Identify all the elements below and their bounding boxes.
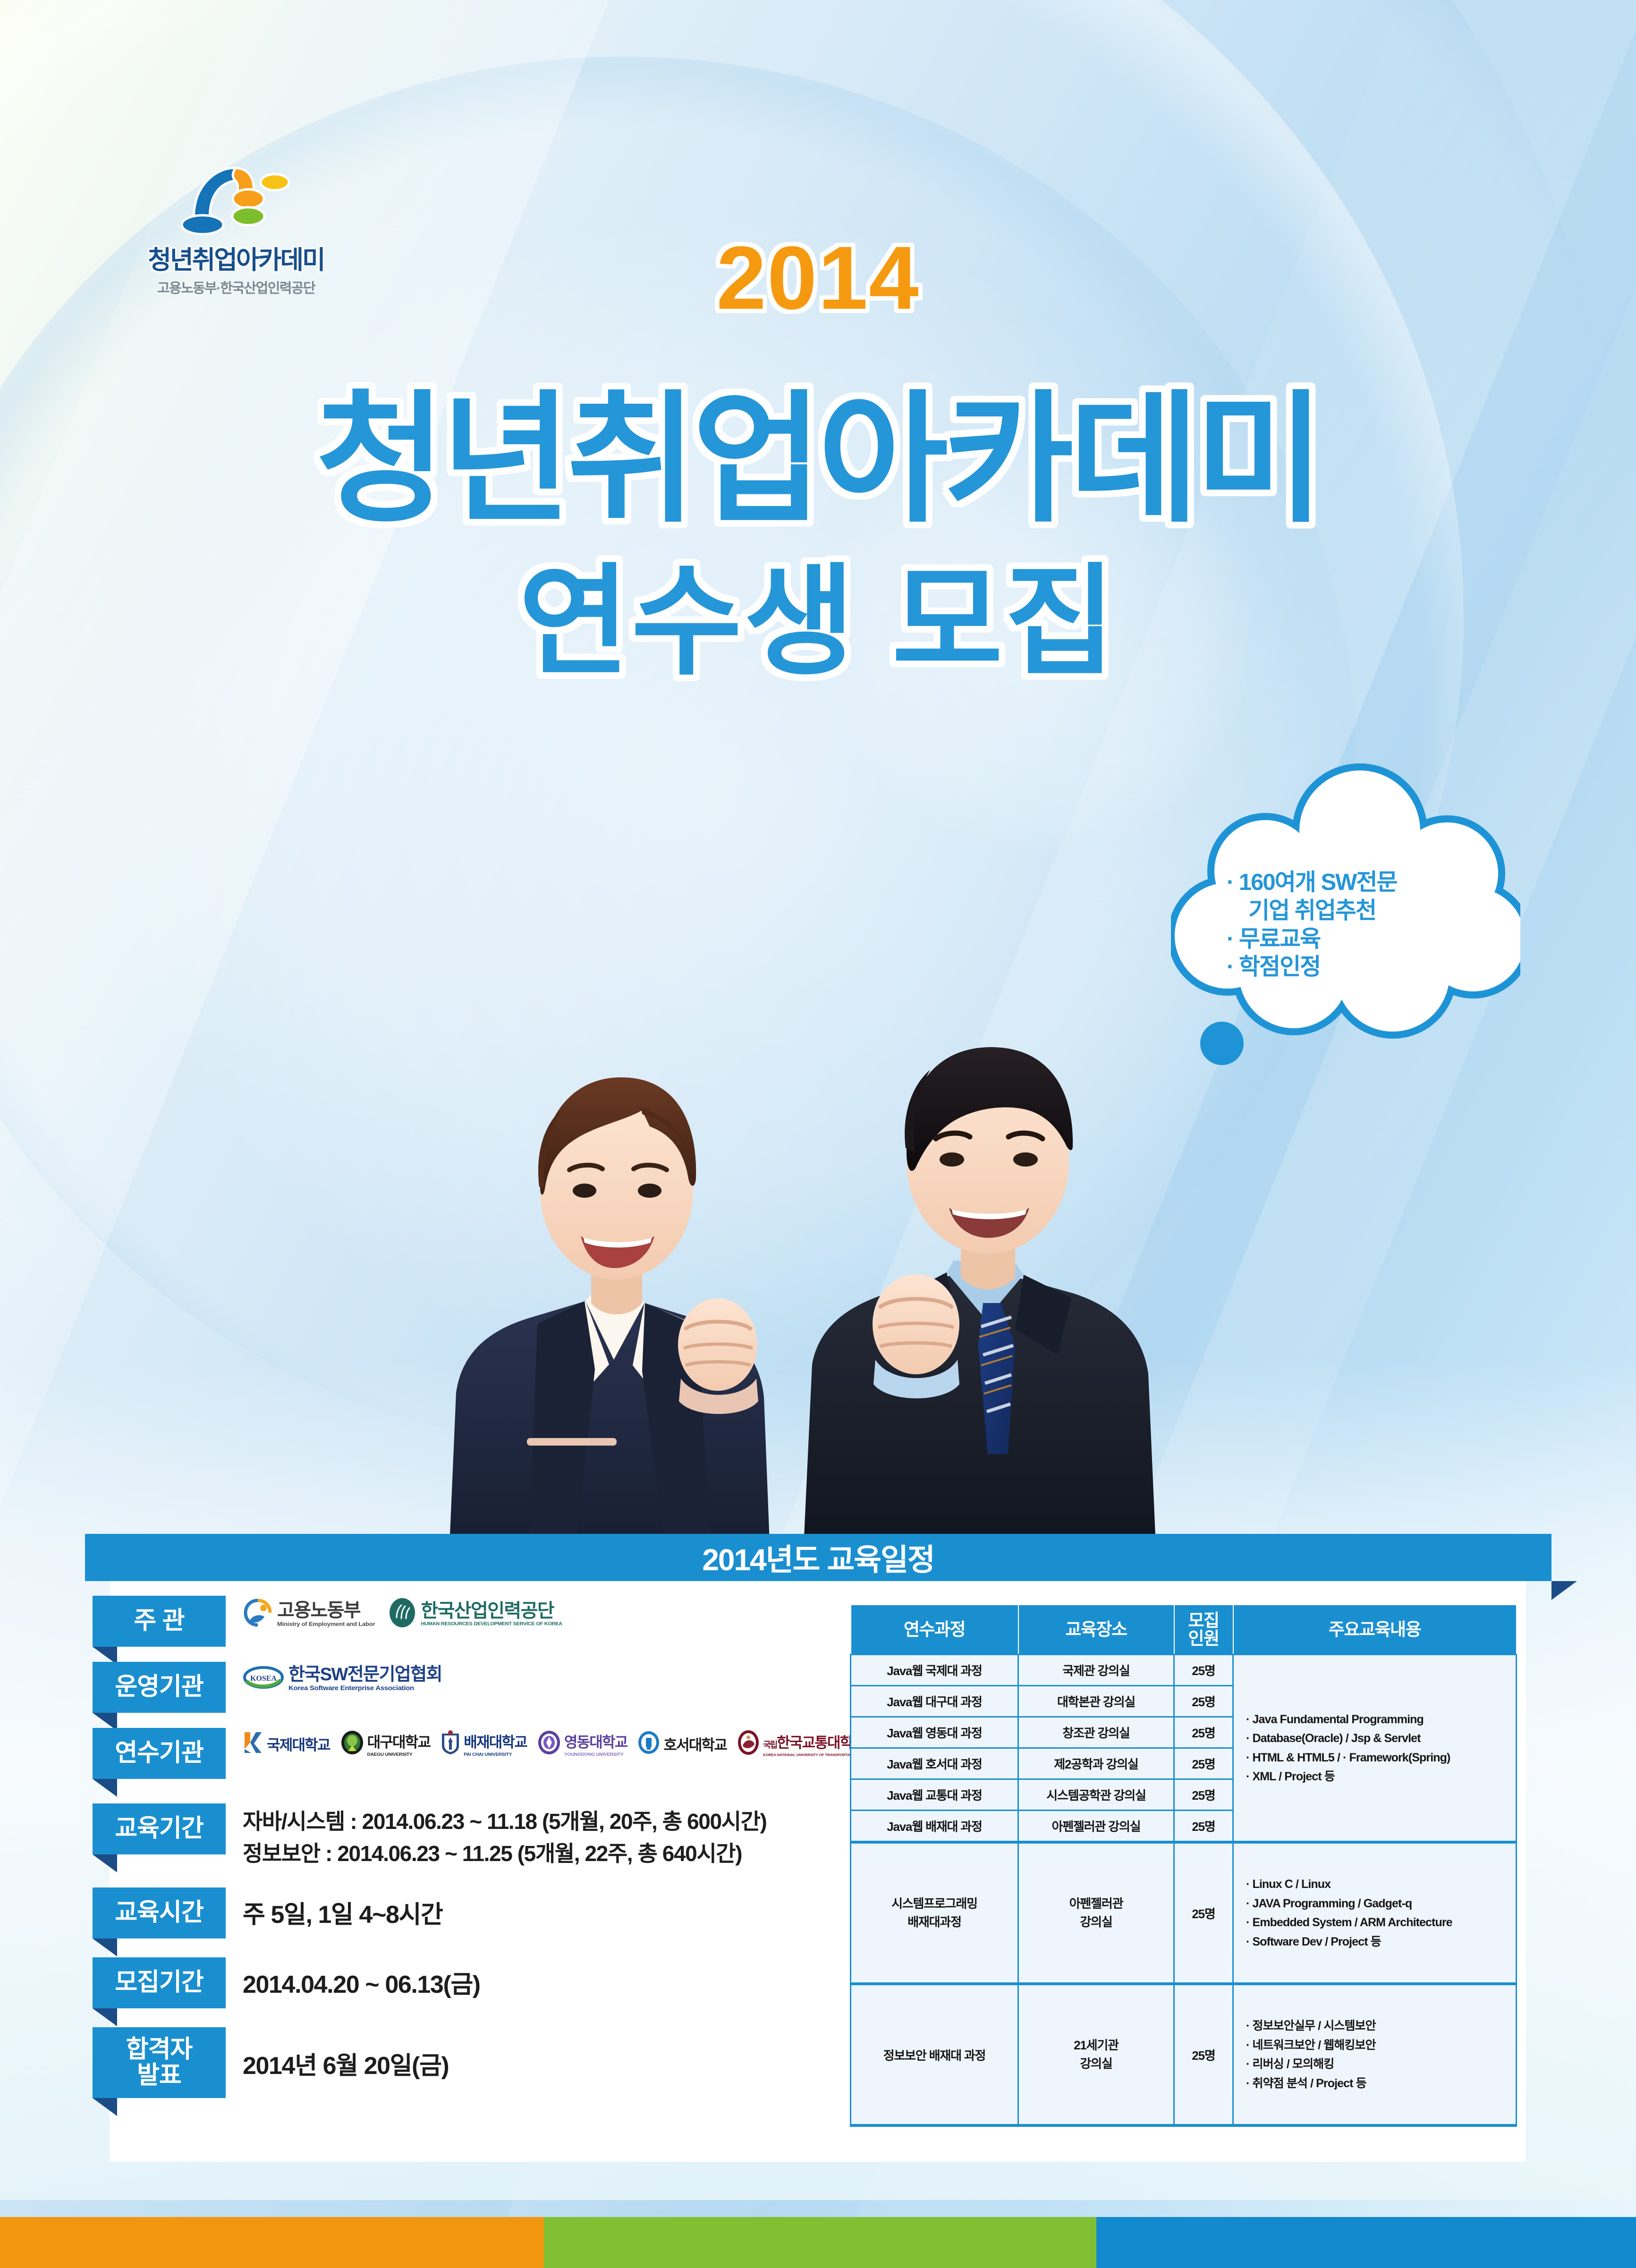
schedule-banner-title: 2014년도 교육일정 xyxy=(702,1536,934,1579)
java-content-2: · Database(Oracle) / Jsp & Servlet xyxy=(1246,1729,1514,1748)
male-student xyxy=(803,1047,1157,1567)
info-row-announce: 합격자 발표 2014년 6월 20일(금) xyxy=(93,2027,839,2103)
info-label-training-institutes: 연수기관 xyxy=(93,1728,226,1779)
cell-place-sysprog: 아펜젤러관 강의실 xyxy=(1018,1842,1174,1984)
cell-course: Java웹 교통대 과정 xyxy=(851,1779,1018,1811)
schedule-header-row: 연수과정 교육장소 모집 인원 주요교육내용 xyxy=(851,1605,1517,1655)
host-logo-strip: 고용노동부 Ministry of Employment and Labor xyxy=(243,1598,839,1630)
footer-bar-green xyxy=(544,2217,1096,2268)
security-content-3: · 리버싱 / 모의해킹 xyxy=(1246,2055,1514,2074)
cell-capacity: 25명 xyxy=(1174,1686,1233,1717)
paichai-kr: 배재대학교 xyxy=(464,1730,527,1752)
cell-place: 아펜젤러관 강의실 xyxy=(1018,1811,1174,1843)
info-label-recruit-text: 모집기간 xyxy=(115,1970,203,1996)
info-value-training-institutes: 국제대학교 대구대학교 xyxy=(226,1728,865,1758)
cell-capacity: 25명 xyxy=(1174,1779,1233,1811)
daegu-crest-icon xyxy=(340,1730,364,1757)
paichai-crest-icon xyxy=(441,1730,460,1758)
cell-course: Java웹 호서대 과정 xyxy=(851,1748,1018,1779)
kosea-emblem-icon: KOSEA xyxy=(243,1664,284,1693)
info-label-operator: 운영기관 xyxy=(93,1662,226,1713)
hrd-emblem-icon xyxy=(388,1598,416,1630)
hero-title-line1: 청년취업아카데미 xyxy=(0,345,1636,550)
cell-place: 대학본관 강의실 xyxy=(1018,1686,1174,1717)
bubble-line-3: · 무료교육 xyxy=(1227,925,1472,954)
molab-kr: 고용노동부 xyxy=(277,1601,375,1620)
info-label-host: 주 관 xyxy=(93,1596,226,1647)
cell-course: Java웹 영동대 과정 xyxy=(851,1717,1018,1748)
youngdong-kr: 영동대학교 xyxy=(564,1730,627,1752)
security-content-1: · 정보보안실무 / 시스템보안 xyxy=(1246,2016,1514,2036)
cell-course: Java웹 대구대 과정 xyxy=(851,1686,1018,1717)
logo-kosea: KOSEA 한국SW전문기업협회 Korea Software Enterpri… xyxy=(243,1664,442,1693)
youngdong-text: 영동대학교 YOUNGDONG UNIVERSITY xyxy=(564,1730,627,1758)
poster-root: 청년취업아카데미 고용노동부·한국산업인력공단 2014 청년취업아카데미 연수… xyxy=(0,0,1636,2268)
info-value-recruit: 2014.04.20 ~ 06.13(금) xyxy=(226,1957,839,2003)
info-label-announce: 합격자 발표 xyxy=(93,2027,226,2098)
java-content-3: · HTML & HTML5 / · Framework(Spring) xyxy=(1246,1748,1514,1768)
sysprog-course-l1: 시스템프로그래밍 xyxy=(853,1895,1016,1913)
info-row-host: 주 관 xyxy=(93,1596,839,1662)
info-label-training-institutes-text: 연수기관 xyxy=(115,1740,203,1766)
info-label-recruit: 모집기간 xyxy=(93,1957,226,2008)
students-photo xyxy=(387,736,1218,1567)
banner-fold-right xyxy=(1551,1581,1577,1600)
paichai-en: PAI CHAI UNIVERSITY xyxy=(464,1752,527,1757)
daegu-en: DAEGU UNIVERSITY xyxy=(367,1752,431,1757)
info-label-host-text: 주 관 xyxy=(134,1608,184,1634)
logo-kookje-university: 국제대학교 xyxy=(243,1730,330,1757)
info-row-period: 교육기간 자바/시스템 : 2014.06.23 ~ 11.18 (5개월, 2… xyxy=(93,1803,839,1887)
info-label-hours: 교육시간 xyxy=(93,1887,226,1938)
female-fist xyxy=(678,1298,758,1414)
header-course: 연수과정 xyxy=(851,1605,1018,1655)
hero-title-line2: 연수생 모집 xyxy=(0,524,1636,698)
cell-capacity: 25명 xyxy=(1174,1717,1233,1748)
security-place-l1: 21세기관 xyxy=(1021,2036,1171,2055)
molab-text: 고용노동부 Ministry of Employment and Labor xyxy=(277,1601,375,1627)
info-row-recruit: 모집기간 2014.04.20 ~ 06.13(금) xyxy=(93,1957,839,2027)
cell-course: Java웹 국제대 과정 xyxy=(851,1655,1018,1686)
logo-korea-national-university-of-transportation: 국립한국교통대학교 KOREA NATIONAL UNIVERSITY OF T… xyxy=(737,1730,865,1758)
cell-course-security: 정보보안 배재대 과정 xyxy=(851,1984,1018,2125)
thought-bubble-dot xyxy=(1200,1022,1244,1065)
hrd-text: 한국산업인력공단 HUMAN RESOURCES DEVELOPMENT SER… xyxy=(421,1601,562,1627)
cell-place: 국제관 강의실 xyxy=(1018,1655,1174,1686)
knut-crest-icon xyxy=(737,1730,760,1758)
bubble-line-4: · 학점인정 xyxy=(1227,953,1472,982)
schedule-table: 연수과정 교육장소 모집 인원 주요교육내용 Java웹 국제대 과정 국제관 … xyxy=(850,1604,1517,2127)
footer-bar-orange xyxy=(0,2217,544,2268)
cell-course: Java웹 배재대 과정 xyxy=(851,1811,1018,1843)
logo-mark-icon xyxy=(165,142,307,236)
tab-fold xyxy=(93,2008,117,2026)
java-content-1: · Java Fundamental Programming xyxy=(1246,1710,1514,1729)
logo-ministry-of-employment-and-labor: 고용노동부 Ministry of Employment and Labor xyxy=(243,1598,375,1630)
paichai-text: 배재대학교 PAI CHAI UNIVERSITY xyxy=(464,1730,527,1758)
sysprog-content-3: · Embedded System / ARM Architecture xyxy=(1246,1913,1514,1932)
tab-fold xyxy=(93,1854,117,1872)
info-label-period-text: 교육기간 xyxy=(115,1816,203,1842)
header-capacity: 모집 인원 xyxy=(1174,1605,1233,1655)
daegu-kr: 대구대학교 xyxy=(367,1730,431,1752)
cell-place: 제2공학과 강의실 xyxy=(1018,1748,1174,1779)
hoseo-text: 호서대학교 xyxy=(663,1733,727,1754)
hoseo-kr: 호서대학교 xyxy=(663,1733,727,1754)
info-row-training-institutes: 연수기관 국제대학교 xyxy=(93,1728,839,1803)
kookje-kr: 국제대학교 xyxy=(267,1733,330,1754)
header-capacity-l1: 모집 xyxy=(1176,1612,1232,1630)
announce-value: 2014년 6월 20일(금) xyxy=(243,2048,839,2084)
security-content-2: · 네트워크보안 / 웹해킹보안 xyxy=(1246,2036,1514,2055)
logo-daegu-university: 대구대학교 DAEGU UNIVERSITY xyxy=(340,1730,431,1758)
tab-fold xyxy=(93,2098,117,2116)
logo-hrd-korea: 한국산업인력공단 HUMAN RESOURCES DEVELOPMENT SER… xyxy=(388,1598,562,1630)
cell-place: 창조관 강의실 xyxy=(1018,1717,1174,1748)
sysprog-content-2: · JAVA Programming / Gadget-q xyxy=(1246,1894,1514,1913)
cell-capacity: 25명 xyxy=(1174,1655,1233,1686)
schedule-banner: 2014년도 교육일정 xyxy=(85,1534,1551,1581)
cell-place-security: 21세기관 강의실 xyxy=(1018,1984,1174,2125)
announce-label-line2: 발표 xyxy=(126,2063,193,2089)
sysprog-course-l2: 배재대과정 xyxy=(853,1913,1016,1931)
cell-capacity: 25명 xyxy=(1174,1748,1233,1779)
kookje-crest-icon xyxy=(243,1730,263,1757)
daegu-text: 대구대학교 DAEGU UNIVERSITY xyxy=(367,1730,431,1758)
sysprog-content-4: · Software Dev / Project 등 xyxy=(1246,1932,1514,1952)
bubble-line-1: · 160여개 SW전문 xyxy=(1227,869,1472,897)
table-row-security: 정보보안 배재대 과정 21세기관 강의실 25명 · 정보보안실무 / 시스템… xyxy=(851,1984,1517,2125)
info-row-hours: 교육시간 주 5일, 1일 4~8시간 xyxy=(93,1887,839,1957)
tab-fold xyxy=(93,1938,117,1956)
cell-place: 시스템공학관 강의실 xyxy=(1018,1779,1174,1811)
info-label-hours-text: 교육시간 xyxy=(115,1900,203,1926)
female-student xyxy=(449,1077,771,1567)
info-value-hours: 주 5일, 1일 4~8시간 xyxy=(226,1887,839,1933)
molab-en: Ministry of Employment and Labor xyxy=(277,1621,375,1627)
cell-content-sysprog: · Linux C / Linux · JAVA Programming / G… xyxy=(1233,1842,1517,1984)
cell-course-sysprog: 시스템프로그래밍 배재대과정 xyxy=(851,1842,1018,1984)
kookje-text: 국제대학교 xyxy=(267,1733,330,1754)
info-label-operator-text: 운영기관 xyxy=(115,1674,203,1700)
footer-color-bar xyxy=(0,2217,1636,2268)
logo-youngdong-university: 영동대학교 YOUNGDONG UNIVERSITY xyxy=(537,1730,627,1758)
recruit-value: 2014.04.20 ~ 06.13(금) xyxy=(243,1967,839,2003)
students-illustration xyxy=(387,736,1218,1567)
info-value-host: 고용노동부 Ministry of Employment and Labor xyxy=(226,1596,839,1630)
kosea-kr: 한국SW전문기업협회 xyxy=(288,1666,442,1684)
tab-fold xyxy=(93,1779,117,1797)
security-place-l2: 강의실 xyxy=(1021,2055,1171,2073)
sysprog-content-1: · Linux C / Linux xyxy=(1246,1875,1514,1894)
header-capacity-l2: 인원 xyxy=(1176,1630,1232,1648)
java-content-4: · XML / Project 등 xyxy=(1246,1767,1514,1786)
table-row: Java웹 국제대 과정 국제관 강의실 25명 · Java Fundamen… xyxy=(851,1655,1517,1686)
thought-bubble-text: · 160여개 SW전문 기업 취업추천 · 무료교육 · 학점인정 xyxy=(1227,869,1472,982)
cell-capacity-sysprog: 25명 xyxy=(1174,1842,1233,1984)
molab-emblem-icon xyxy=(243,1598,273,1630)
sysprog-place-l1: 아펜젤러관 xyxy=(1021,1895,1171,1913)
university-logo-strip: 국제대학교 대구대학교 xyxy=(243,1730,865,1758)
header-place: 교육장소 xyxy=(1018,1605,1174,1655)
period-line-1: 자바/시스템 : 2014.06.23 ~ 11.18 (5개월, 20주, 총… xyxy=(243,1805,839,1837)
hoseo-crest-icon xyxy=(637,1730,660,1757)
cell-content-security: · 정보보안실무 / 시스템보안 · 네트워크보안 / 웹해킹보안 · 리버싱 … xyxy=(1233,1984,1517,2125)
info-label-announce-text: 합격자 발표 xyxy=(126,2037,193,2089)
hero-year: 2014 xyxy=(0,227,1636,330)
header-content: 주요교육내용 xyxy=(1233,1605,1517,1655)
info-value-announce: 2014년 6월 20일(금) xyxy=(226,2027,839,2084)
info-value-period: 자바/시스템 : 2014.06.23 ~ 11.18 (5개월, 20주, 총… xyxy=(226,1803,839,1870)
male-fist xyxy=(873,1274,959,1398)
svg-text:KOSEA: KOSEA xyxy=(250,1675,277,1683)
hours-value: 주 5일, 1일 4~8시간 xyxy=(243,1897,839,1933)
info-list: 주 관 xyxy=(93,1596,839,2103)
youngdong-crest-icon xyxy=(537,1730,561,1757)
logo-paichai-university: 배재대학교 PAI CHAI UNIVERSITY xyxy=(441,1730,527,1758)
kosea-en: Korea Software Enterprise Association xyxy=(288,1685,442,1692)
security-content-4: · 취약점 분석 / Project 등 xyxy=(1246,2074,1514,2093)
footer-bar-blue xyxy=(1096,2217,1636,2268)
thought-bubble: · 160여개 SW전문 기업 취업추천 · 무료교육 · 학점인정 xyxy=(1171,760,1520,1072)
sprout-logo-icon xyxy=(165,142,307,236)
youngdong-en: YOUNGDONG UNIVERSITY xyxy=(564,1752,627,1757)
operator-logo-strip: KOSEA 한국SW전문기업협회 Korea Software Enterpri… xyxy=(243,1664,839,1693)
logo-hoseo-university: 호서대학교 xyxy=(637,1730,727,1757)
info-label-period: 교육기간 xyxy=(93,1803,226,1854)
period-line-2: 정보보안 : 2014.06.23 ~ 11.25 (5개월, 22주, 총 6… xyxy=(243,1837,839,1870)
announce-label-line1: 합격자 xyxy=(126,2037,193,2063)
knut-prefix: 국립 xyxy=(763,1740,777,1750)
cell-capacity-security: 25명 xyxy=(1174,1984,1233,2125)
table-row-sysprog: 시스템프로그래밍 배재대과정 아펜젤러관 강의실 25명 · Linux C /… xyxy=(851,1842,1517,1984)
hrd-kr: 한국산업인력공단 xyxy=(421,1601,562,1620)
info-value-operator: KOSEA 한국SW전문기업협회 Korea Software Enterpri… xyxy=(226,1662,839,1693)
cell-capacity: 25명 xyxy=(1174,1811,1233,1843)
kosea-text: 한국SW전문기업협회 Korea Software Enterprise Ass… xyxy=(288,1666,442,1692)
info-row-operator: 운영기관 KOSEA 한국SW전문기업협회 xyxy=(93,1662,839,1728)
hrd-en: HUMAN RESOURCES DEVELOPMENT SERVICE OF K… xyxy=(421,1622,562,1626)
cell-content-java: · Java Fundamental Programming · Databas… xyxy=(1233,1655,1517,1843)
sysprog-place-l2: 강의실 xyxy=(1021,1913,1171,1931)
bubble-line-2: 기업 취업추천 xyxy=(1227,897,1472,925)
